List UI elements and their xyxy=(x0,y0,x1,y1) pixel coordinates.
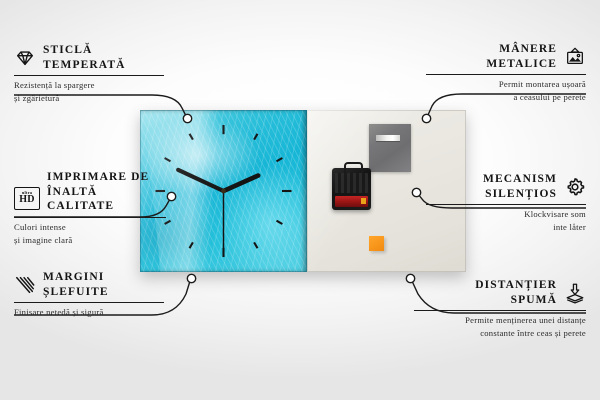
callout-title-text: DISTANȚIERSPUMĂ xyxy=(475,278,557,307)
foam-spacer xyxy=(369,236,384,251)
metal-hanger-plate xyxy=(369,124,411,172)
callout-tempered-glass: STICLĂTEMPERATĂ Rezistență la spargereși… xyxy=(14,43,164,104)
mechanism-body xyxy=(335,173,368,193)
callout-title-text: STICLĂTEMPERATĂ xyxy=(43,43,126,72)
callout-title: MARGINIȘLEFUITE xyxy=(14,270,164,299)
callout-subtitle: Klockvisare sominte låter xyxy=(426,208,586,233)
hanger-slot xyxy=(376,135,400,141)
callout-title-text: MECANISMSILENȚIOS xyxy=(483,172,557,201)
callout-title-text: IMPRIMARE DEÎNALTĂ CALITATE xyxy=(47,170,166,214)
clock-mechanism xyxy=(332,168,371,210)
callout-silent-mechanism: MECANISMSILENȚIOS Klockvisare sominte lå… xyxy=(426,172,586,233)
callout-subtitle: Permite menținerea unei distanțeconstant… xyxy=(414,314,586,339)
callout-rule xyxy=(14,217,166,218)
callout-rule xyxy=(14,75,164,76)
mechanism-hook xyxy=(344,162,363,173)
callout-title-text: MÂNEREMETALICE xyxy=(486,42,557,71)
callout-subtitle: Permit montarea ușoarăa ceasului pe pere… xyxy=(426,78,586,103)
battery xyxy=(335,196,368,207)
callout-subtitle: Finisare netedă și sigură xyxy=(14,306,164,318)
infographic-canvas: STICLĂTEMPERATĂ Rezistență la spargereși… xyxy=(0,0,600,400)
callout-rule xyxy=(414,310,586,311)
ultra-hd-icon: ultra HD xyxy=(14,181,40,203)
product-image xyxy=(140,110,466,272)
callout-subtitle: Culori intenseși imagine clară xyxy=(14,221,166,246)
picture-frame-icon xyxy=(564,46,586,68)
gear-icon xyxy=(564,176,586,198)
callout-title: MECANISMSILENȚIOS xyxy=(426,172,586,201)
callout-subtitle: Rezistență la spargereși zgârietură xyxy=(14,79,164,104)
callout-title: MÂNEREMETALICE xyxy=(426,42,586,71)
diamond-icon xyxy=(14,47,36,69)
callout-title-text: MARGINIȘLEFUITE xyxy=(43,270,109,299)
callout-title: DISTANȚIERSPUMĂ xyxy=(414,278,586,307)
callout-rule xyxy=(426,204,586,205)
callout-high-quality-print: ultra HD IMPRIMARE DEÎNALTĂ CALITATE Cul… xyxy=(14,170,166,246)
diagonal-lines-icon xyxy=(14,274,36,296)
callout-polished-edges: MARGINIȘLEFUITE Finisare netedă și sigur… xyxy=(14,270,164,319)
arrow-onto-pad-icon xyxy=(564,282,586,304)
callout-foam-spacer: DISTANȚIERSPUMĂ Permite menținerea unei … xyxy=(414,278,586,339)
callout-rule xyxy=(14,302,164,303)
callout-title: ultra HD IMPRIMARE DEÎNALTĂ CALITATE xyxy=(14,170,166,214)
callout-metal-handles: MÂNEREMETALICE Permit montarea ușoarăa c… xyxy=(426,42,586,103)
callout-title: STICLĂTEMPERATĂ xyxy=(14,43,164,72)
callout-rule xyxy=(426,74,586,75)
